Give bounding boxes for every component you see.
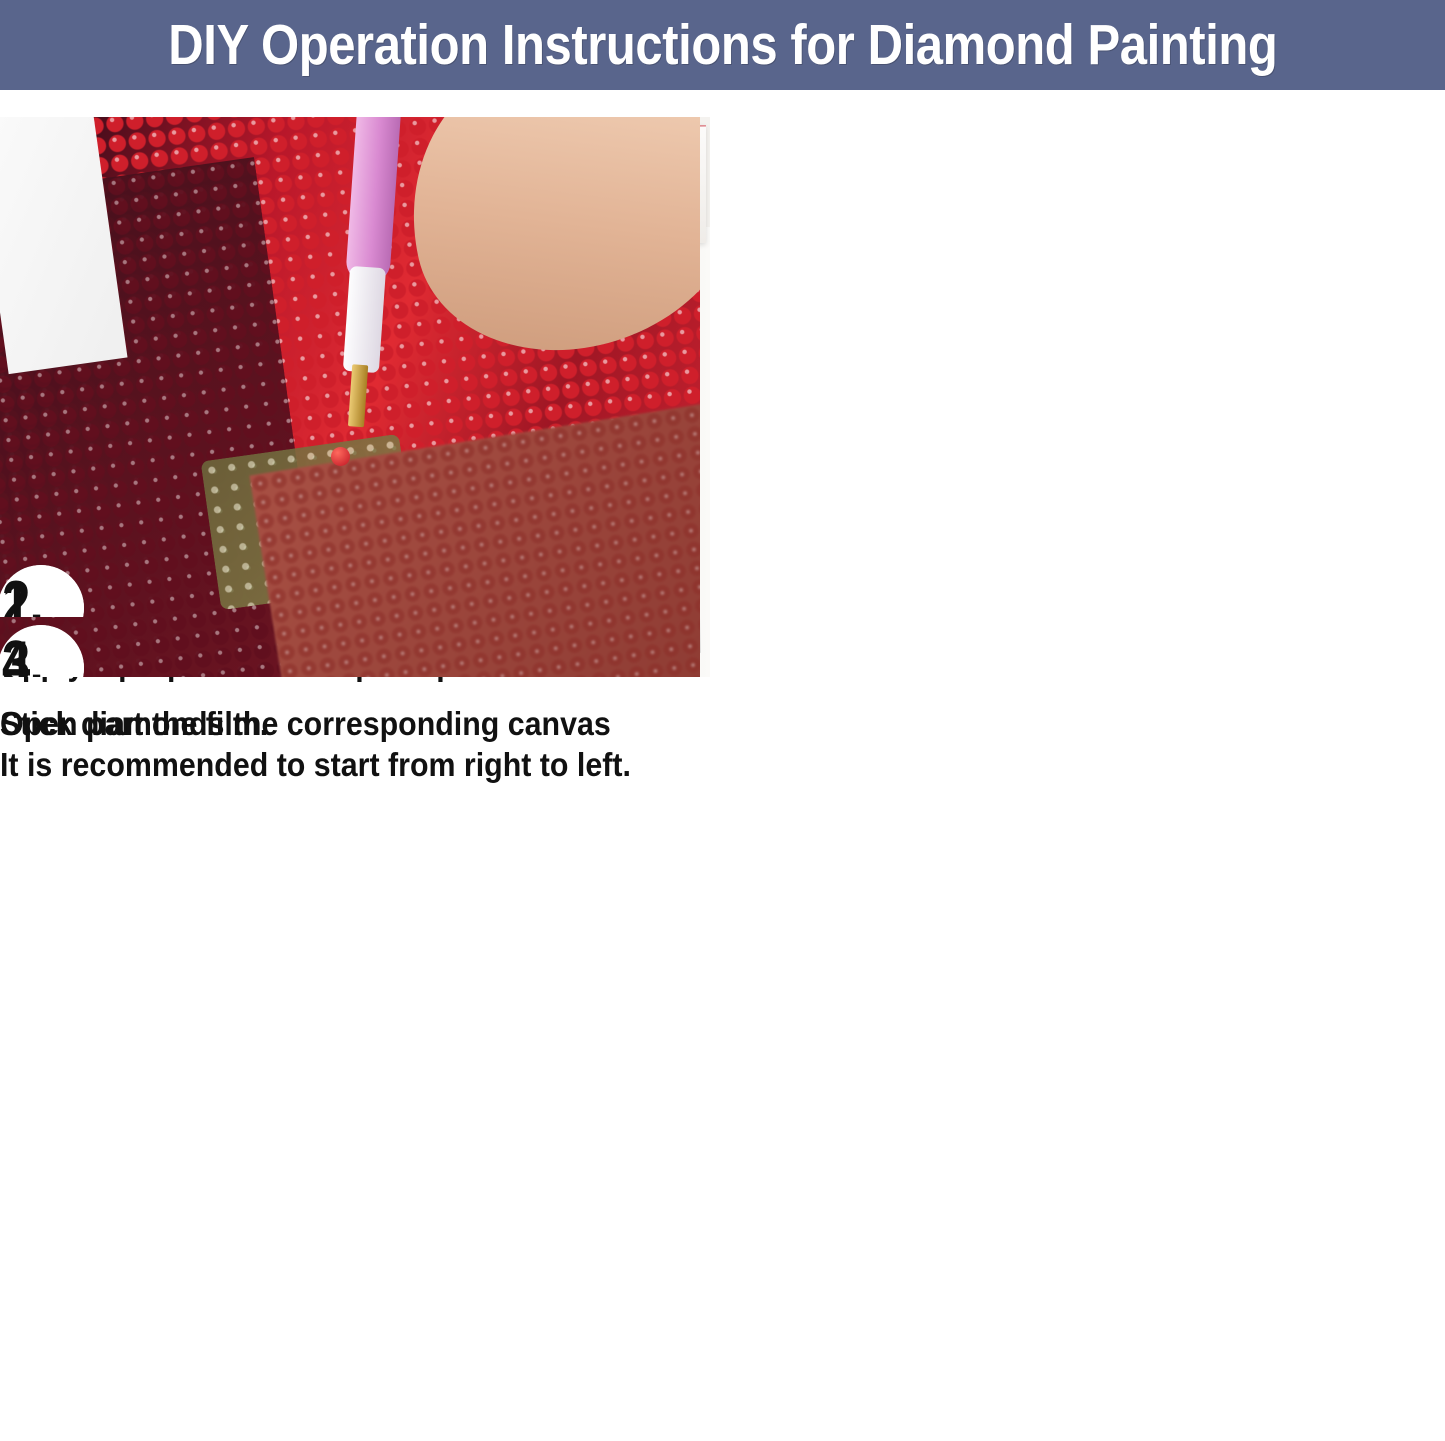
pen-body — [345, 117, 402, 284]
page-title: DIY Operation Instructions for Diamond P… — [168, 12, 1277, 78]
header-banner: DIY Operation Instructions for Diamond P… — [0, 0, 1445, 90]
step-4-caption: Stick diamonds the corresponding canvas — [0, 677, 644, 744]
step-number-4: 4. — [2, 633, 43, 677]
steps-grid: 1. Apply a proper amount of adhesive — [0, 117, 1445, 1441]
step-card-4: 4. Stick diamonds the corresponding canv… — [0, 117, 700, 793]
pen-clear-section — [343, 266, 386, 373]
step-4-photo: 4. — [0, 117, 700, 677]
caption-line: Stick diamonds the corresponding canvas — [0, 703, 644, 744]
diamond-being-placed — [331, 447, 350, 466]
pen-gold-tip — [348, 364, 368, 427]
step-number-2: 2. — [2, 573, 43, 617]
instruction-sheet: DIY Operation Instructions for Diamond P… — [0, 0, 1445, 1441]
